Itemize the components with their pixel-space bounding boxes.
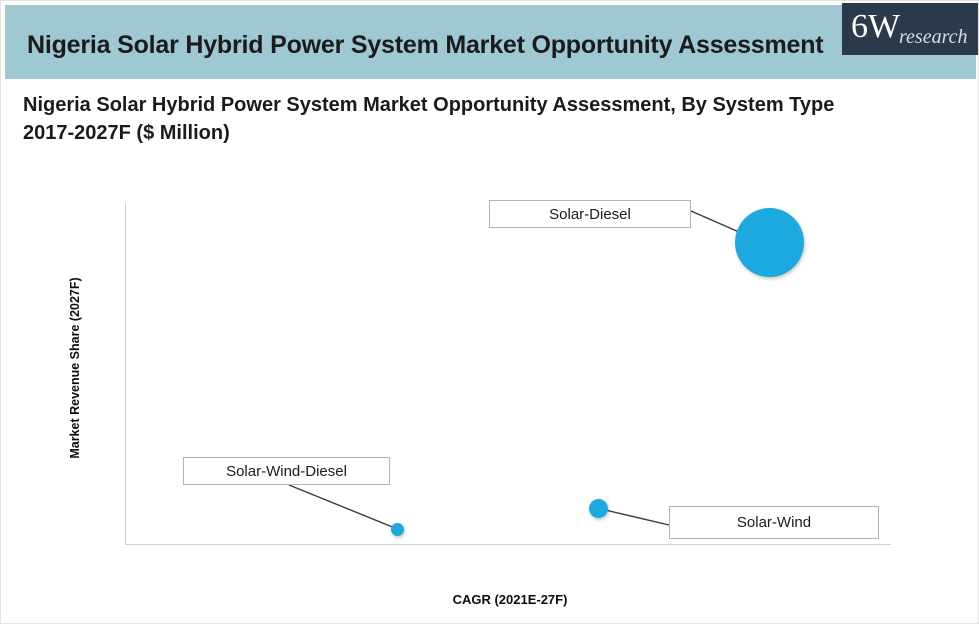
callout-label: Solar-Wind-Diesel [226, 463, 347, 480]
callout-solar-wind[interactable]: Solar-Wind [669, 506, 879, 539]
x-axis-label: CAGR (2021E-27F) [335, 592, 685, 607]
leader-line-solar-wind [601, 509, 669, 525]
callout-label: Solar-Diesel [549, 206, 631, 223]
y-axis-line [125, 203, 126, 545]
callout-solar-diesel[interactable]: Solar-Diesel [489, 200, 691, 228]
callout-solar-wind-diesel[interactable]: Solar-Wind-Diesel [183, 457, 390, 485]
x-axis-line [125, 544, 891, 545]
plot-area: Market Revenue Share (2027F) CAGR (2021E… [1, 1, 979, 624]
chart-canvas: Nigeria Solar Hybrid Power System Market… [0, 0, 979, 624]
callout-label: Solar-Wind [737, 514, 811, 531]
bubble-solar-wind-diesel[interactable] [391, 523, 404, 536]
bubble-solar-wind[interactable] [589, 499, 608, 518]
leader-line-solar-wind-diesel [289, 485, 395, 528]
bubble-solar-diesel[interactable] [735, 208, 804, 277]
y-axis-label: Market Revenue Share (2027F) [68, 248, 82, 488]
